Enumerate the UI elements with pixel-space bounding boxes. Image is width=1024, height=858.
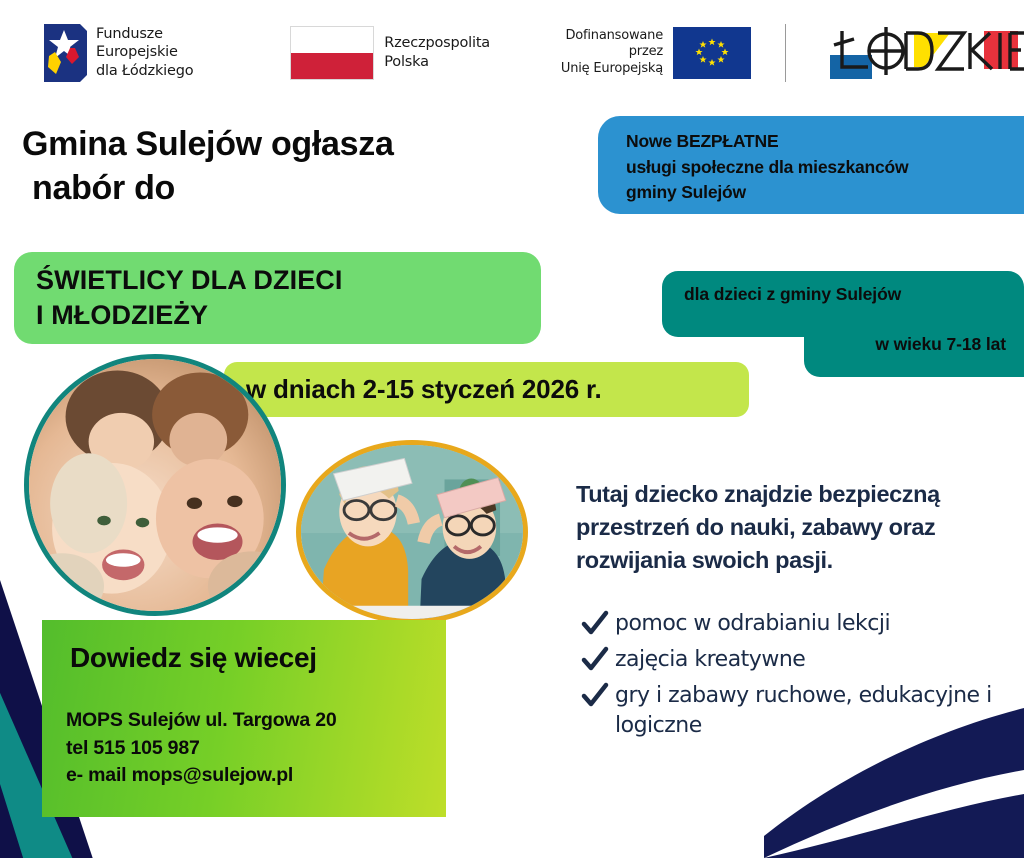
logo-pl-text: Rzeczpospolita Polska — [384, 34, 490, 71]
poster-canvas: Fundusze Europejskie dla Łódzkiego Rzecz… — [0, 0, 1024, 858]
check-icon — [580, 645, 610, 675]
logo-fe-text: Fundusze Europejskie dla Łódzkiego — [96, 25, 248, 81]
contact-title: Dowiedz się wiecej — [58, 642, 446, 674]
list-item: gry i zabawy ruchowe, edukacyjne i logic… — [580, 680, 1024, 743]
check-icon — [580, 681, 610, 711]
contact-phone: tel 515 105 987 — [66, 735, 446, 763]
badge-age-range: w wieku 7-18 lat — [804, 323, 1024, 377]
logo-rzeczpospolita-polska: Rzeczpospolita Polska — [290, 26, 490, 80]
teal-top-text: dla dzieci z gminy Sulejów — [684, 284, 901, 304]
list-item-label: zajęcia kreatywne — [615, 644, 805, 676]
headline-line-2: nabór do — [22, 166, 562, 210]
intro-line-2: przestrzeń do nauki, zabawy oraz — [576, 511, 1024, 544]
blue-banner-line-2: usługi społeczne dla mieszkanców — [626, 155, 1024, 181]
headline-line-1: Gmina Sulejów ogłasza — [22, 122, 562, 166]
contact-address: MOPS Sulejów ul. Targowa 20 — [66, 707, 446, 735]
photo-laughing-kids — [24, 354, 286, 616]
intro-line-3: rozwijania swoich pasji. — [576, 544, 1024, 577]
list-item-label: pomoc w odrabianiu lekcji — [615, 608, 890, 640]
list-item: zajęcia kreatywne — [580, 644, 1024, 676]
photo-kids-with-books — [296, 440, 528, 624]
eu-flag-icon — [673, 27, 751, 79]
contact-email: e- mail mops@sulejow.pl — [66, 762, 446, 790]
banner-swietlica: ŚWIETLICY DLA DZIECI I MŁODZIEŻY — [14, 252, 541, 344]
date-banner-text: w dniach 2-15 styczeń 2026 r. — [246, 374, 602, 405]
teal-bottom-text: w wieku 7-18 lat — [875, 334, 1006, 354]
intro-paragraph: Tutaj dziecko znajdzie bezpieczną przest… — [576, 478, 1024, 577]
blue-banner-line-1: Nowe BEZPŁATNE — [626, 129, 1024, 155]
list-item-label: gry i zabawy ruchowe, edukacyjne i logic… — [615, 680, 1024, 743]
contact-details: MOPS Sulejów ul. Targowa 20 tel 515 105 … — [58, 707, 446, 790]
logo-fundusze-europejskie: Fundusze Europejskie dla Łódzkiego — [42, 22, 248, 84]
banner-enrollment-dates: w dniach 2-15 styczeń 2026 r. — [224, 362, 749, 417]
logo-unia-europejska: Dofinansowane przez Unię Europejską — [528, 27, 751, 79]
eu-funds-star-icon — [42, 22, 87, 84]
check-icon — [580, 609, 610, 639]
lodzkie-logo-icon — [824, 17, 1024, 89]
green-banner-line-1: ŚWIETLICY DLA DZIECI — [36, 263, 541, 298]
polish-flag-icon — [290, 26, 374, 80]
contact-panel: Dowiedz się wiecej MOPS Sulejów ul. Targ… — [42, 620, 446, 817]
funding-logo-strip: Fundusze Europejskie dla Łódzkiego Rzecz… — [0, 0, 1024, 105]
page-title: Gmina Sulejów ogłasza nabór do — [22, 122, 562, 210]
logo-lodzkie — [824, 17, 1024, 89]
list-item: pomoc w odrabianiu lekcji — [580, 608, 1024, 640]
green-banner-line-2: I MŁODZIEŻY — [36, 298, 541, 333]
benefits-list: pomoc w odrabianiu lekcji zajęcia kreaty… — [580, 608, 1024, 746]
logo-divider — [785, 24, 786, 82]
banner-new-free-services: Nowe BEZPŁATNE usługi społeczne dla mies… — [598, 116, 1024, 214]
intro-line-1: Tutaj dziecko znajdzie bezpieczną — [576, 478, 1024, 511]
logo-eu-text: Dofinansowane przez Unię Europejską — [528, 28, 663, 78]
blue-banner-line-3: gminy Sulejów — [626, 180, 1024, 206]
